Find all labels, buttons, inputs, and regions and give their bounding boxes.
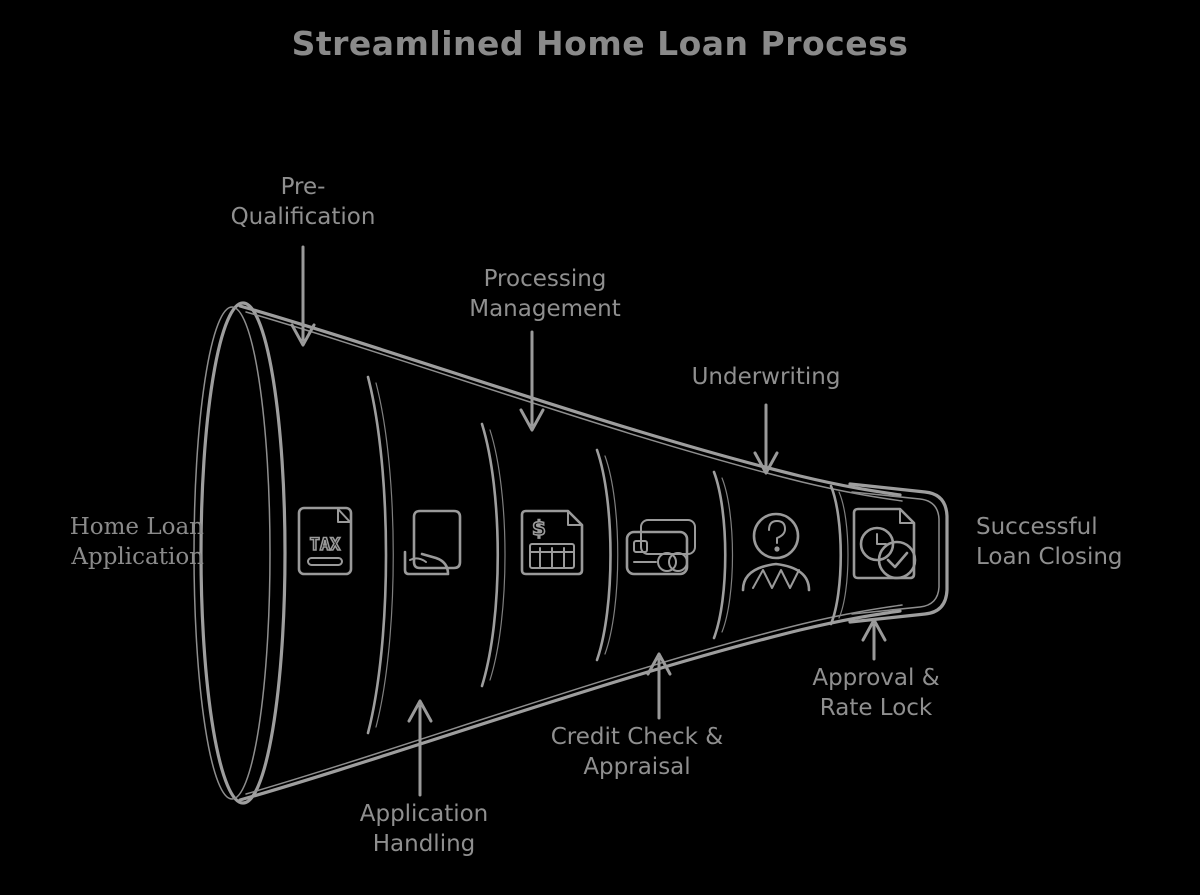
icon-tax-document: TAX bbox=[299, 508, 351, 574]
arrow-approval-rate-lock bbox=[863, 620, 885, 659]
stage-divider-5 bbox=[831, 486, 841, 624]
funnel-mouth-outer bbox=[201, 303, 285, 803]
arrow-processing-management bbox=[521, 332, 543, 430]
stage-divider-1 bbox=[368, 377, 386, 733]
icon-person-question bbox=[743, 514, 809, 590]
icon-document-scanner bbox=[405, 511, 460, 574]
funnel-top-edge-shadow bbox=[246, 312, 902, 501]
arrow-credit-check-appraisal bbox=[648, 654, 670, 718]
label-processing-management: Processing Management bbox=[432, 264, 658, 324]
label-credit-check-appraisal: Credit Check & Appraisal bbox=[520, 722, 754, 782]
label-application-handling: Application Handling bbox=[318, 799, 530, 859]
funnel-top-edge bbox=[240, 306, 900, 495]
label-successful-loan-closing: Successful Loan Closing bbox=[976, 512, 1192, 572]
label-home-loan-application: Home Loan Application bbox=[8, 512, 204, 572]
arrow-underwriting bbox=[755, 405, 777, 473]
stage-divider-4 bbox=[714, 472, 725, 638]
stage-divider-4b bbox=[722, 478, 733, 632]
svg-text:$: $ bbox=[532, 516, 546, 540]
arrow-pre-qualification bbox=[292, 247, 314, 345]
icon-financial-report: $ bbox=[522, 511, 582, 574]
icon-credit-cards bbox=[627, 520, 695, 574]
stage-divider-3 bbox=[597, 450, 611, 660]
stage-divider-2 bbox=[482, 424, 498, 686]
label-underwriting: Underwriting bbox=[655, 362, 877, 392]
icon-document-clock-check bbox=[854, 509, 915, 578]
label-pre-qualification: Pre- Qualification bbox=[198, 172, 408, 232]
label-approval-rate-lock: Approval & Rate Lock bbox=[768, 663, 984, 723]
diagram-canvas: .fl { fill:none; stroke:#9e9e9e; stroke-… bbox=[0, 0, 1200, 895]
svg-text:TAX: TAX bbox=[310, 535, 341, 555]
funnel-mouth-inner bbox=[194, 307, 270, 799]
page-title: Streamlined Home Loan Process bbox=[0, 24, 1200, 63]
